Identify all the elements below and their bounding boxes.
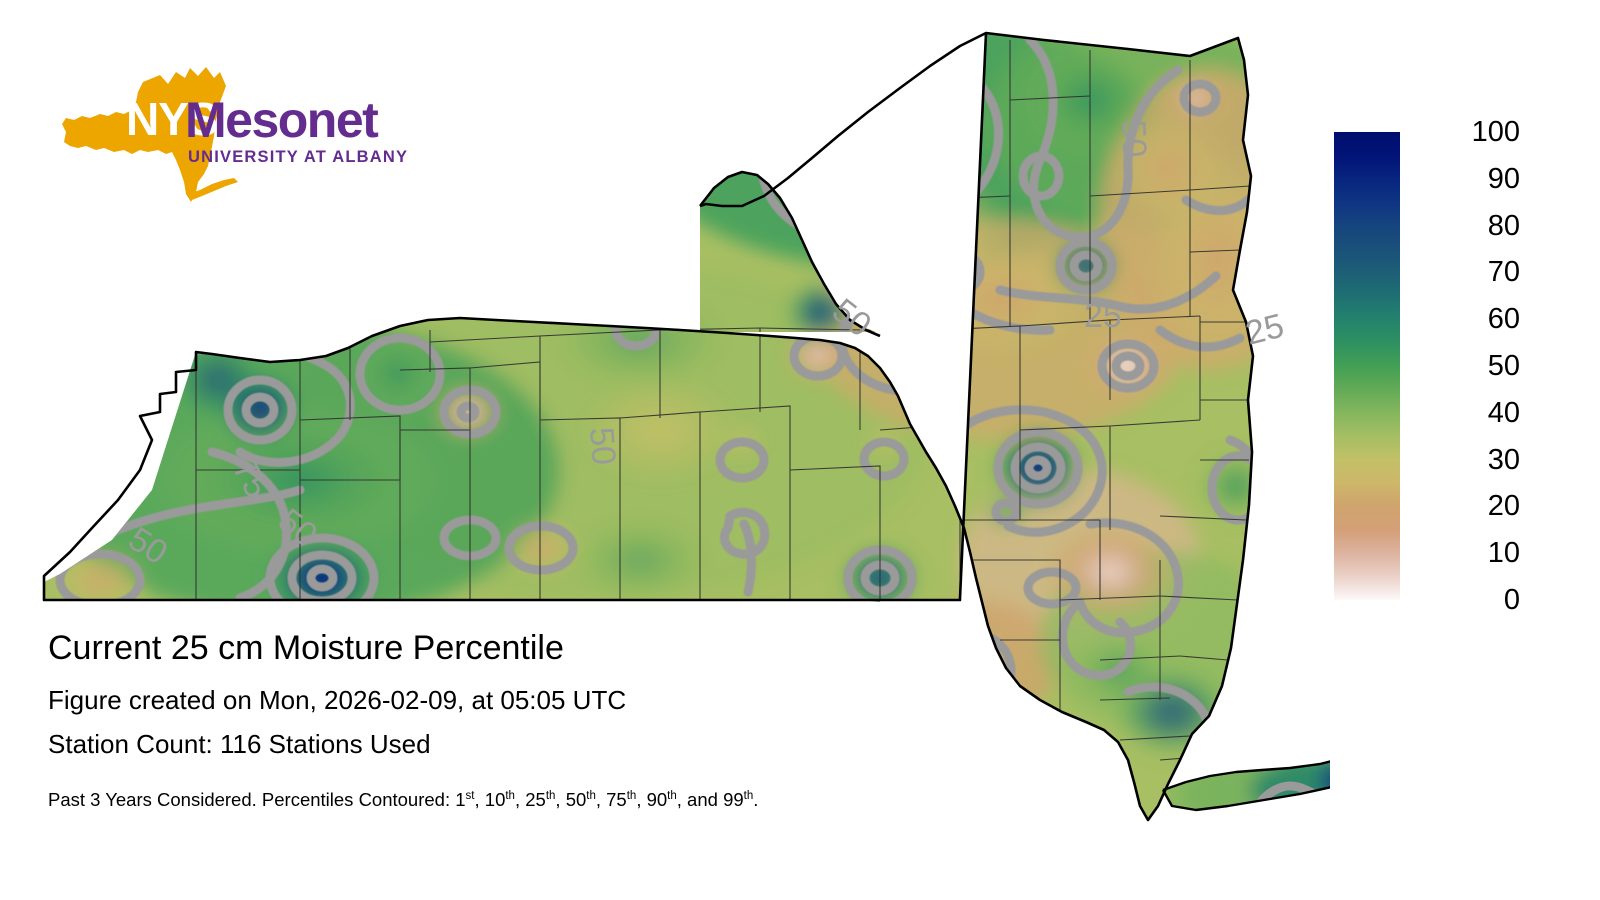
colorbar-tick-labels: 1009080706050403020100	[1410, 132, 1562, 600]
colorbar-tick-70: 70	[1410, 258, 1520, 287]
colorbar: 1009080706050403020100	[1334, 132, 1574, 612]
colorbar-tick-80: 80	[1410, 212, 1520, 241]
colorbar-tick-50: 50	[1410, 352, 1520, 381]
ordinal-suffix: th	[586, 790, 596, 802]
ordinal-suffix: th	[505, 790, 515, 802]
ordinal-suffix: th	[744, 790, 754, 802]
ordinal-suffix: th	[546, 790, 556, 802]
contour-footnote: Past 3 Years Considered. Percentiles Con…	[48, 788, 1048, 812]
colorbar-tick-10: 10	[1410, 539, 1520, 568]
colorbar-gradient	[1334, 132, 1400, 600]
caption-block: Current 25 cm Moisture Percentile Figure…	[48, 628, 1048, 812]
colorbar-tick-20: 20	[1410, 492, 1520, 521]
contour-label: 50	[1114, 119, 1153, 158]
page-title: Current 25 cm Moisture Percentile	[48, 628, 1048, 668]
ordinal-suffix: st	[466, 790, 475, 802]
colorbar-tick-0: 0	[1410, 586, 1520, 615]
colorbar-tick-30: 30	[1410, 446, 1520, 475]
ordinal-suffix: th	[627, 790, 637, 802]
colorbar-tick-60: 60	[1410, 305, 1520, 334]
ordinal-suffix: th	[667, 790, 677, 802]
colorbar-tick-100: 100	[1410, 118, 1520, 147]
contour-label: 25	[1084, 297, 1122, 335]
created-timestamp: Figure created on Mon, 2026-02-09, at 05…	[48, 684, 1048, 716]
contour-label: 25	[1242, 307, 1288, 353]
station-count: Station Count: 116 Stations Used	[48, 728, 1048, 760]
colorbar-tick-40: 40	[1410, 399, 1520, 428]
contour-label: 50	[582, 426, 623, 466]
colorbar-tick-90: 90	[1410, 165, 1520, 194]
